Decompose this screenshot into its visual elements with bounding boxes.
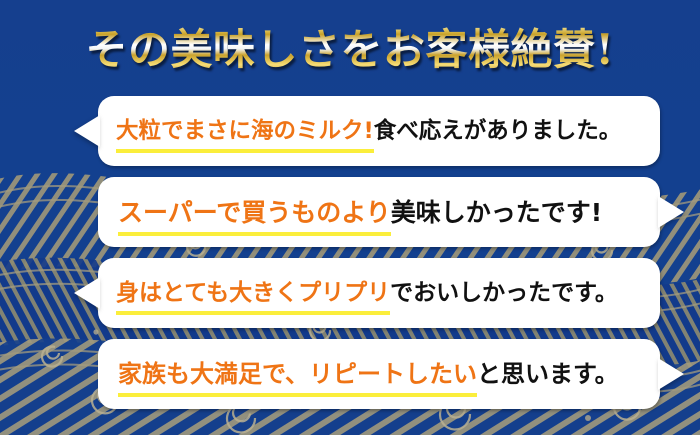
headline-text: その美味しさをお客様絶賛!: [86, 16, 615, 77]
review-bubble: 身はとても大きくプリプリでおいしかったです。: [98, 258, 660, 328]
review-bubble: 大粒でまさに海のミルク!食べ応えがありました。: [98, 96, 660, 166]
review-plain-text: 食べ応えがありました。: [374, 118, 622, 144]
headline-container: その美味しさをお客様絶賛!: [0, 0, 700, 92]
speech-bubble-tail-right: [658, 358, 684, 390]
review-text: スーパーで買うものより美味しかったです!: [98, 200, 602, 225]
review-plain-text: でおいしかったです。: [390, 280, 618, 306]
review-highlight-text: 大粒でまさに海のミルク!: [116, 118, 374, 153]
review-text: 身はとても大きくプリプリでおいしかったです。: [98, 282, 618, 305]
review-plain-text: と思います。: [477, 360, 619, 388]
review-highlight-text: スーパーで買うものより: [118, 198, 391, 236]
review-bubble: スーパーで買うものより美味しかったです!: [98, 177, 660, 247]
speech-bubble-tail-left: [74, 277, 100, 309]
review-highlight-text: 家族も大満足で、リピートしたい: [118, 360, 477, 397]
promotional-banner: その美味しさをお客様絶賛! 大粒でまさに海のミルク!食べ応えがありました。 スー…: [0, 0, 700, 435]
review-plain-text: 美味しかったです!: [391, 198, 602, 227]
review-highlight-text: 身はとても大きくプリプリ: [116, 280, 390, 315]
review-bubble: 家族も大満足で、リピートしたいと思います。: [98, 339, 660, 409]
review-text: 家族も大満足で、リピートしたいと思います。: [98, 362, 619, 386]
speech-bubble-tail-left: [74, 115, 100, 147]
review-text: 大粒でまさに海のミルク!食べ応えがありました。: [98, 120, 621, 143]
speech-bubble-tail-right: [658, 196, 684, 228]
